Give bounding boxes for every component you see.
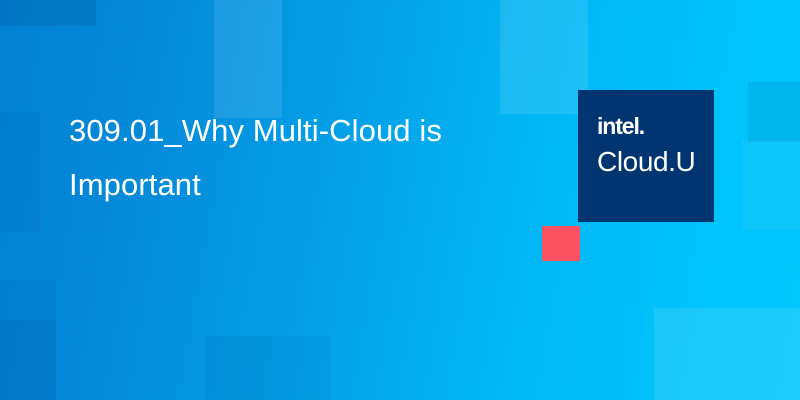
background-block-top-center: [214, 0, 282, 118]
background-block-bottom-left: [0, 320, 56, 400]
background-block-right-mid: [742, 140, 800, 230]
background-block-top-right-light: [500, 0, 588, 114]
title-slide: 309.01_Why Multi-Cloud is Important inte…: [0, 0, 800, 400]
background-block-top-right-dark: [748, 82, 800, 142]
slide-title: 309.01_Why Multi-Cloud is Important: [69, 104, 539, 212]
background-block-mid-left: [0, 112, 40, 232]
accent-square: [542, 226, 580, 261]
background-block-bottom-center: [205, 336, 330, 400]
intel-wordmark: intel.: [597, 115, 644, 138]
background-block-bottom-right: [654, 308, 800, 400]
intel-cloudu-logo-card: intel. Cloud.U: [578, 90, 714, 222]
background-block-bottom-left-upper: [0, 280, 56, 320]
cloudu-wordmark: Cloud.U: [597, 147, 695, 178]
background-block-top-left: [0, 0, 96, 26]
